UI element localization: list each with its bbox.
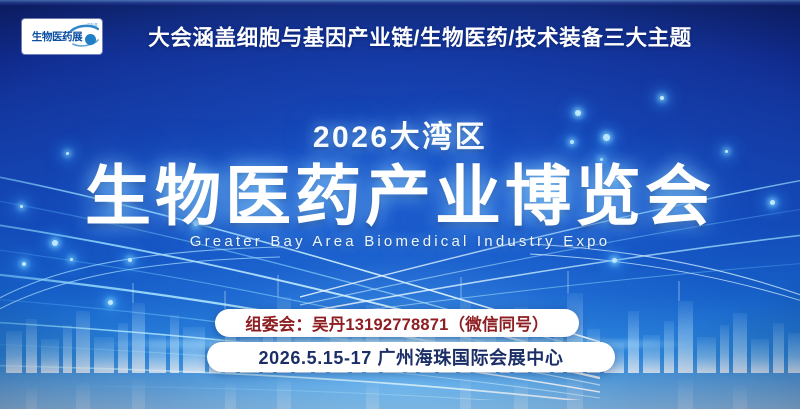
poster-header: 生物医药展 国际展 大会涵盖细胞与基因产业链/生物医药/技术装备三大主题 [0, 5, 800, 67]
logo-dot-icon [85, 34, 96, 45]
glow-dot [22, 262, 26, 266]
glow-dot [128, 258, 132, 262]
contact-info-text: 组委会：吴丹13192778871（微信同号） [245, 311, 549, 335]
expo-banner-poster: 生物医药展 国际展 大会涵盖细胞与基因产业链/生物医药/技术装备三大主题 202… [0, 0, 800, 409]
main-title: 生物医药产业博览会 [0, 160, 800, 232]
arc-lines-right [530, 240, 800, 310]
date-venue-text: 2026.5.15-17 广州海珠国际会展中心 [259, 344, 564, 370]
glow-dot [70, 258, 73, 261]
date-venue-bar: 2026.5.15-17 广州海珠国际会展中心 [207, 342, 615, 372]
year-region-title: 2026大湾区 [0, 112, 800, 156]
english-subtitle: Greater Bay Area Biomedical Industry Exp… [0, 233, 800, 250]
glow-dot [612, 258, 617, 263]
expo-logo: 生物医药展 国际展 [22, 19, 102, 54]
glow-dot [108, 300, 113, 305]
headline-text: 大会涵盖细胞与基因产业链/生物医药/技术装备三大主题 [102, 21, 738, 52]
contact-info-bar: 组委会：吴丹13192778871（微信同号） [215, 309, 579, 337]
glow-dot [660, 96, 664, 100]
